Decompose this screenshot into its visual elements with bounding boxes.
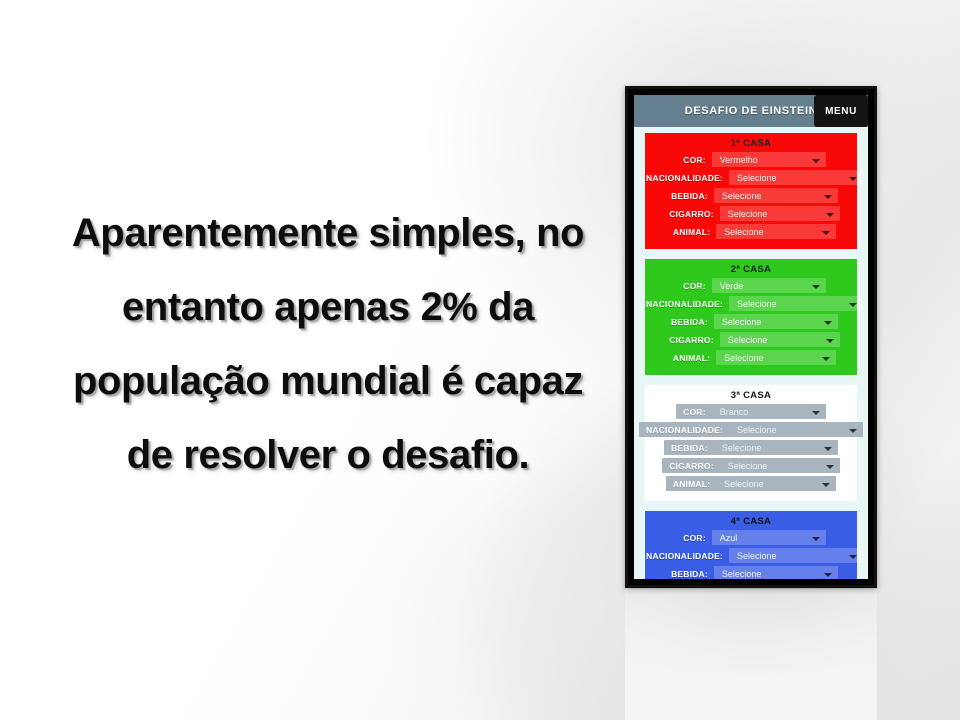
house-field: CIGARRO:Selecione xyxy=(662,458,840,473)
slide-canvas: Aparentemente simples, no entanto apenas… xyxy=(0,0,960,720)
chevron-down-icon xyxy=(849,429,857,433)
field-select[interactable]: Selecione xyxy=(716,476,836,491)
house-field-row: NACIONALIDADE:Selecione xyxy=(645,548,857,563)
field-select[interactable]: Selecione xyxy=(714,314,838,329)
chevron-down-icon xyxy=(849,177,857,181)
device-screen: DESAFIO DE EINSTEIN MENU 1ª CASACOR:Verm… xyxy=(634,95,868,579)
field-select[interactable]: Selecione xyxy=(716,350,836,365)
field-select[interactable]: Selecione xyxy=(720,332,840,347)
house-field: CIGARRO:Selecione xyxy=(662,332,840,347)
field-label: NACIONALIDADE: xyxy=(639,425,729,435)
field-select-value: Selecione xyxy=(722,191,762,201)
house-field-row: BEBIDA:Selecione xyxy=(645,440,857,455)
field-select-value: Selecione xyxy=(722,317,762,327)
field-select[interactable]: Selecione xyxy=(714,566,838,579)
house-field: BEBIDA:Selecione xyxy=(664,314,838,329)
headline-line-2: entanto apenas 2% da xyxy=(38,270,618,344)
chevron-down-icon xyxy=(812,285,820,289)
house-field-row: CIGARRO:Selecione xyxy=(645,206,857,221)
house-field-row: COR:Branco xyxy=(645,404,857,419)
field-select-value: Selecione xyxy=(728,209,768,219)
field-select-value: Selecione xyxy=(724,353,764,363)
field-select-value: Verde xyxy=(720,281,744,291)
app-header-bar: DESAFIO DE EINSTEIN MENU xyxy=(634,95,868,127)
field-select[interactable]: Selecione xyxy=(729,170,863,185)
house-field-row: NACIONALIDADE:Selecione xyxy=(645,422,857,437)
house-field: COR:Verde xyxy=(676,278,826,293)
house-field-row: ANIMAL:Selecione xyxy=(645,224,857,239)
house-field: ANIMAL:Selecione xyxy=(666,224,836,239)
menu-button[interactable]: MENU xyxy=(814,95,868,127)
device-reflection: DESAFIO DE EINSTEIN MENU 1ª CASACOR:Verm… xyxy=(625,589,877,720)
field-label: COR: xyxy=(676,155,712,165)
house-title: 4ª CASA xyxy=(645,516,857,527)
field-select[interactable]: Selecione xyxy=(716,224,836,239)
chevron-down-icon xyxy=(824,321,832,325)
house-title: 1ª CASA xyxy=(645,138,857,149)
slide-headline: Aparentemente simples, no entanto apenas… xyxy=(38,196,618,492)
house-card: 2ª CASACOR:VerdeNACIONALIDADE:SelecioneB… xyxy=(645,259,857,375)
house-card: 1ª CASACOR:VermelhoNACIONALIDADE:Selecio… xyxy=(645,133,857,249)
headline-line-3: população mundial é capaz xyxy=(38,344,618,418)
house-field: NACIONALIDADE:Selecione xyxy=(639,422,863,437)
chevron-down-icon xyxy=(849,303,857,307)
house-field: COR:Branco xyxy=(676,404,826,419)
device-frame: DESAFIO DE EINSTEIN MENU 1ª CASACOR:Verm… xyxy=(625,86,877,588)
house-field: NACIONALIDADE:Selecione xyxy=(639,296,863,311)
house-card: 3ª CASACOR:BrancoNACIONALIDADE:Selecione… xyxy=(645,385,857,501)
house-field-row: ANIMAL:Selecione xyxy=(645,350,857,365)
field-select-value: Vermelho xyxy=(720,155,758,165)
device-reflection-fade xyxy=(625,589,877,720)
field-select[interactable]: Selecione xyxy=(729,548,863,563)
field-label: BEBIDA: xyxy=(664,443,714,453)
field-select-value: Selecione xyxy=(722,569,762,579)
chevron-down-icon xyxy=(812,537,820,541)
field-select-value: Selecione xyxy=(724,479,764,489)
field-label: BEBIDA: xyxy=(664,317,714,327)
field-select[interactable]: Selecione xyxy=(714,440,838,455)
field-select-value: Selecione xyxy=(737,425,777,435)
house-field: BEBIDA:Selecione xyxy=(664,566,838,579)
field-select-value: Branco xyxy=(720,407,749,417)
house-field-row: COR:Vermelho xyxy=(645,152,857,167)
chevron-down-icon xyxy=(824,447,832,451)
field-select-value: Selecione xyxy=(737,551,777,561)
field-select[interactable]: Selecione xyxy=(714,188,838,203)
house-field-row: NACIONALIDADE:Selecione xyxy=(645,170,857,185)
field-label: NACIONALIDADE: xyxy=(639,299,729,309)
field-select[interactable]: Verde xyxy=(712,278,826,293)
chevron-down-icon xyxy=(824,195,832,199)
house-field-row: CIGARRO:Selecione xyxy=(645,332,857,347)
house-field: BEBIDA:Selecione xyxy=(664,440,838,455)
chevron-down-icon xyxy=(822,231,830,235)
house-field-row: BEBIDA:Selecione xyxy=(645,188,857,203)
field-label: CIGARRO: xyxy=(662,461,720,471)
house-field: COR:Azul xyxy=(676,530,826,545)
chevron-down-icon xyxy=(826,465,834,469)
field-select-value: Selecione xyxy=(728,461,768,471)
house-field: COR:Vermelho xyxy=(676,152,826,167)
headline-line-1: Aparentemente simples, no xyxy=(38,196,618,270)
house-field: ANIMAL:Selecione xyxy=(666,476,836,491)
field-label: COR: xyxy=(676,533,712,543)
field-select[interactable]: Branco xyxy=(712,404,826,419)
house-field: BEBIDA:Selecione xyxy=(664,188,838,203)
house-field: ANIMAL:Selecione xyxy=(666,350,836,365)
field-label: ANIMAL: xyxy=(666,479,716,489)
chevron-down-icon xyxy=(824,573,832,577)
field-select[interactable]: Vermelho xyxy=(712,152,826,167)
chevron-down-icon xyxy=(822,357,830,361)
house-field: CIGARRO:Selecione xyxy=(662,206,840,221)
field-select-value: Selecione xyxy=(737,299,777,309)
field-select-value: Azul xyxy=(720,533,738,543)
field-label: BEBIDA: xyxy=(664,191,714,201)
chevron-down-icon xyxy=(849,555,857,559)
house-field-row: COR:Azul xyxy=(645,530,857,545)
field-label: COR: xyxy=(676,407,712,417)
house-list: 1ª CASACOR:VermelhoNACIONALIDADE:Selecio… xyxy=(634,127,868,579)
house-field-row: COR:Verde xyxy=(645,278,857,293)
house-field-row: BEBIDA:Selecione xyxy=(645,566,857,579)
house-field-row: CIGARRO:Selecione xyxy=(645,458,857,473)
field-select[interactable]: Selecione xyxy=(720,458,840,473)
field-select-value: Selecione xyxy=(737,173,777,183)
house-title: 2ª CASA xyxy=(645,264,857,275)
field-select-value: Selecione xyxy=(724,227,764,237)
field-select[interactable]: Selecione xyxy=(720,206,840,221)
house-title: 3ª CASA xyxy=(645,390,857,401)
field-label: NACIONALIDADE: xyxy=(639,551,729,561)
house-field-row: ANIMAL:Selecione xyxy=(645,476,857,491)
house-field-row: NACIONALIDADE:Selecione xyxy=(645,296,857,311)
field-label: ANIMAL: xyxy=(666,227,716,237)
field-select-value: Selecione xyxy=(728,335,768,345)
field-select[interactable]: Selecione xyxy=(729,422,863,437)
headline-line-4: de resolver o desafio. xyxy=(38,418,618,492)
field-label: CIGARRO: xyxy=(662,209,720,219)
field-label: BEBIDA: xyxy=(664,569,714,579)
house-card: 4ª CASACOR:AzulNACIONALIDADE:SelecioneBE… xyxy=(645,511,857,579)
house-field: NACIONALIDADE:Selecione xyxy=(639,170,863,185)
field-label: NACIONALIDADE: xyxy=(639,173,729,183)
field-label: COR: xyxy=(676,281,712,291)
phone-mockup: DESAFIO DE EINSTEIN MENU 1ª CASACOR:Verm… xyxy=(625,86,877,588)
chevron-down-icon xyxy=(826,213,834,217)
field-select[interactable]: Selecione xyxy=(729,296,863,311)
chevron-down-icon xyxy=(826,339,834,343)
chevron-down-icon xyxy=(812,411,820,415)
app-title: DESAFIO DE EINSTEIN xyxy=(685,105,817,117)
field-label: CIGARRO: xyxy=(662,335,720,345)
house-field: NACIONALIDADE:Selecione xyxy=(639,548,863,563)
field-label: ANIMAL: xyxy=(666,353,716,363)
chevron-down-icon xyxy=(812,159,820,163)
field-select-value: Selecione xyxy=(722,443,762,453)
field-select[interactable]: Azul xyxy=(712,530,826,545)
house-field-row: BEBIDA:Selecione xyxy=(645,314,857,329)
chevron-down-icon xyxy=(822,483,830,487)
